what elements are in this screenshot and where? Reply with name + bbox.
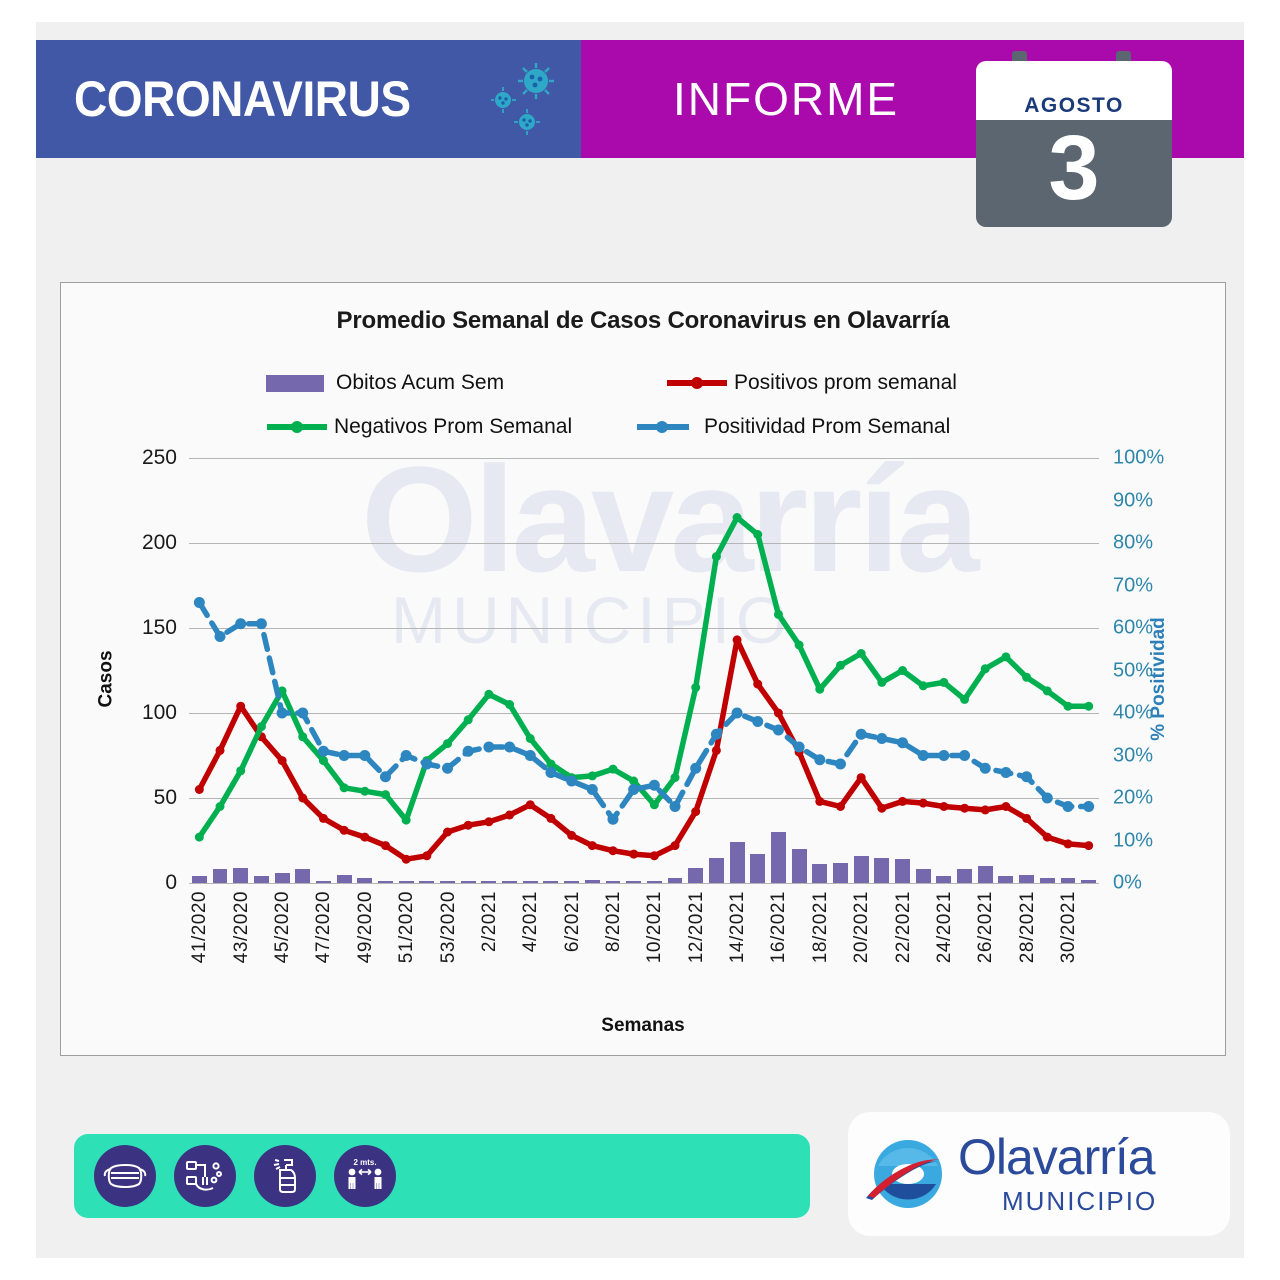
data-point bbox=[443, 739, 452, 748]
x-axis-tick: 45/2020 bbox=[272, 891, 294, 963]
data-point bbox=[897, 737, 908, 748]
data-point bbox=[629, 850, 638, 859]
line-series-layer bbox=[189, 458, 1099, 883]
x-axis-tick: 8/2021 bbox=[603, 891, 625, 952]
data-point bbox=[711, 729, 722, 740]
data-point bbox=[815, 797, 824, 806]
calendar-day: 3 bbox=[1048, 129, 1099, 207]
data-point bbox=[526, 734, 535, 743]
x-axis-tick: 2/2021 bbox=[479, 891, 501, 952]
x-axis-tick: 22/2021 bbox=[893, 891, 915, 963]
x-axis-tick: 14/2021 bbox=[727, 891, 749, 963]
data-point bbox=[919, 681, 928, 690]
legend-swatch-line-green-icon bbox=[266, 417, 328, 437]
data-point bbox=[691, 807, 700, 816]
calendar-date-widget: AGOSTO 3 bbox=[976, 55, 1172, 227]
data-point bbox=[278, 756, 287, 765]
plot-area: 0501001502002500%10%20%30%40%50%60%70%80… bbox=[189, 458, 1099, 883]
legend-item-positivos[interactable]: Positivos prom semanal bbox=[666, 371, 1046, 395]
data-point bbox=[1043, 686, 1052, 695]
y2-axis-tick: 80% bbox=[1113, 532, 1153, 555]
data-point bbox=[298, 794, 307, 803]
data-point bbox=[359, 750, 370, 761]
data-point bbox=[753, 680, 762, 689]
data-point bbox=[691, 683, 700, 692]
legend-label-negativos: Negativos Prom Semanal bbox=[334, 415, 572, 439]
data-point bbox=[1083, 801, 1094, 812]
y-axis-tick: 100 bbox=[142, 701, 177, 725]
data-point bbox=[443, 828, 452, 837]
data-point bbox=[216, 746, 225, 755]
data-point bbox=[712, 552, 721, 561]
data-point bbox=[380, 771, 391, 782]
data-point bbox=[836, 802, 845, 811]
data-point bbox=[402, 816, 411, 825]
data-point bbox=[960, 695, 969, 704]
data-point bbox=[981, 664, 990, 673]
data-point bbox=[795, 641, 804, 650]
data-point bbox=[959, 750, 970, 761]
data-point bbox=[981, 805, 990, 814]
data-point bbox=[753, 530, 762, 539]
data-point bbox=[939, 802, 948, 811]
data-point bbox=[588, 771, 597, 780]
data-point bbox=[195, 833, 204, 842]
data-point bbox=[236, 702, 245, 711]
data-point bbox=[919, 799, 928, 808]
data-point bbox=[980, 763, 991, 774]
data-point bbox=[442, 763, 453, 774]
data-point bbox=[464, 821, 473, 830]
data-point bbox=[733, 513, 742, 522]
legend-swatch-bar-icon bbox=[266, 375, 324, 392]
data-point bbox=[464, 715, 473, 724]
data-point bbox=[794, 742, 805, 753]
data-point bbox=[712, 746, 721, 755]
data-point bbox=[1063, 702, 1072, 711]
face-mask-icon bbox=[94, 1145, 156, 1207]
data-point bbox=[815, 685, 824, 694]
x-axis-tick: 18/2021 bbox=[810, 891, 832, 963]
data-point bbox=[339, 750, 350, 761]
data-point bbox=[483, 742, 494, 753]
data-point bbox=[566, 776, 577, 787]
y-axis-tick: 200 bbox=[142, 531, 177, 555]
data-point bbox=[607, 814, 618, 825]
data-point bbox=[567, 831, 576, 840]
data-point bbox=[1000, 767, 1011, 778]
data-point bbox=[235, 618, 246, 629]
data-point bbox=[608, 846, 617, 855]
legend-row-2: Negativos Prom Semanal Positividad Prom … bbox=[266, 405, 1046, 449]
data-point bbox=[340, 783, 349, 792]
data-point bbox=[463, 746, 474, 757]
data-point bbox=[752, 716, 763, 727]
data-point bbox=[216, 802, 225, 811]
chart-legend: Obitos Acum Sem Positivos prom semanal N… bbox=[266, 361, 1046, 449]
data-point bbox=[628, 784, 639, 795]
data-point bbox=[401, 750, 412, 761]
data-point bbox=[318, 746, 329, 757]
calendar-month: AGOSTO bbox=[1024, 94, 1124, 118]
legend-row-1: Obitos Acum Sem Positivos prom semanal bbox=[266, 361, 1046, 405]
data-point bbox=[670, 801, 681, 812]
data-point bbox=[856, 729, 867, 740]
x-axis-tick: 20/2021 bbox=[851, 891, 873, 963]
data-point bbox=[256, 618, 267, 629]
page-title: CORONAVIRUS bbox=[74, 70, 411, 128]
x-axis-tick: 6/2021 bbox=[562, 891, 584, 952]
y-axis-label: Casos bbox=[96, 650, 118, 707]
data-point bbox=[877, 678, 886, 687]
y2-axis-tick: 0% bbox=[1113, 872, 1142, 895]
data-point bbox=[898, 797, 907, 806]
line-positivos bbox=[199, 640, 1088, 859]
hand-washing-icon bbox=[174, 1145, 236, 1207]
x-axis-tick: 51/2020 bbox=[396, 891, 418, 963]
data-point bbox=[588, 841, 597, 850]
data-point bbox=[1042, 793, 1053, 804]
data-point bbox=[277, 708, 288, 719]
y2-axis-tick: 50% bbox=[1113, 659, 1153, 682]
data-point bbox=[484, 817, 493, 826]
data-point bbox=[1084, 841, 1093, 850]
logo-text-block: Olavarría MUNICIPIO bbox=[958, 1132, 1157, 1217]
y2-axis-tick: 70% bbox=[1113, 574, 1153, 597]
data-point bbox=[649, 780, 660, 791]
y2-axis-tick: 100% bbox=[1113, 447, 1164, 470]
data-point bbox=[360, 787, 369, 796]
social-distance-icon: 2 mts. bbox=[334, 1145, 396, 1207]
data-point bbox=[1062, 801, 1073, 812]
y2-axis-tick: 60% bbox=[1113, 617, 1153, 640]
legend-label-positividad: Positividad Prom Semanal bbox=[704, 415, 950, 439]
data-point bbox=[1001, 652, 1010, 661]
data-point bbox=[1001, 802, 1010, 811]
municipality-logo: Olavarría MUNICIPIO bbox=[848, 1112, 1230, 1236]
data-point bbox=[960, 804, 969, 813]
legend-item-obitos[interactable]: Obitos Acum Sem bbox=[266, 371, 666, 395]
y2-axis-tick: 30% bbox=[1113, 744, 1153, 767]
chart-title: Promedio Semanal de Casos Coronavirus en… bbox=[61, 307, 1225, 335]
report-page: CORONAVIRUS bbox=[0, 0, 1280, 1280]
x-axis-tick: 4/2021 bbox=[520, 891, 542, 952]
data-point bbox=[774, 610, 783, 619]
x-axis-tick: 47/2020 bbox=[313, 891, 335, 963]
data-point bbox=[546, 814, 555, 823]
olavarria-swoosh-logo-icon bbox=[866, 1132, 950, 1216]
line-positividad bbox=[199, 603, 1088, 820]
legend-item-positividad[interactable]: Positividad Prom Semanal bbox=[636, 415, 1016, 439]
legend-item-negativos[interactable]: Negativos Prom Semanal bbox=[266, 415, 636, 439]
y-axis-tick: 0 bbox=[165, 871, 177, 895]
data-point bbox=[857, 649, 866, 658]
x-axis-tick: 43/2020 bbox=[231, 891, 253, 963]
data-point bbox=[773, 725, 784, 736]
data-point bbox=[484, 690, 493, 699]
data-point bbox=[421, 759, 432, 770]
data-point bbox=[1063, 839, 1072, 848]
data-point bbox=[195, 785, 204, 794]
data-point bbox=[422, 851, 431, 860]
x-axis-tick: 53/2020 bbox=[438, 891, 460, 963]
data-point bbox=[257, 722, 266, 731]
legend-swatch-line-red-icon bbox=[666, 373, 728, 393]
data-point bbox=[298, 732, 307, 741]
data-point bbox=[733, 635, 742, 644]
x-axis-tick: 28/2021 bbox=[1017, 891, 1039, 963]
data-point bbox=[732, 708, 743, 719]
prevention-measures-bar: 2 mts. bbox=[74, 1134, 810, 1218]
legend-label-obitos: Obitos Acum Sem bbox=[336, 371, 504, 395]
data-point bbox=[898, 666, 907, 675]
data-point bbox=[402, 855, 411, 864]
logo-subtitle: MUNICIPIO bbox=[1002, 1186, 1157, 1217]
data-point bbox=[671, 773, 680, 782]
data-point bbox=[587, 784, 598, 795]
data-point bbox=[1022, 814, 1031, 823]
data-point bbox=[857, 773, 866, 782]
data-point bbox=[671, 841, 680, 850]
data-point bbox=[194, 597, 205, 608]
y-axis-tick: 50 bbox=[154, 786, 177, 810]
data-point bbox=[340, 826, 349, 835]
data-point bbox=[505, 700, 514, 709]
y2-axis-tick: 20% bbox=[1113, 787, 1153, 810]
data-point bbox=[504, 742, 515, 753]
logo-name: Olavarría bbox=[958, 1132, 1157, 1182]
data-point bbox=[938, 750, 949, 761]
data-point bbox=[814, 754, 825, 765]
y2-axis-tick: 90% bbox=[1113, 489, 1153, 512]
y2-axis-tick: 40% bbox=[1113, 702, 1153, 725]
data-point bbox=[525, 750, 536, 761]
data-point bbox=[319, 814, 328, 823]
data-point bbox=[236, 766, 245, 775]
x-axis-tick: 30/2021 bbox=[1058, 891, 1080, 963]
data-point bbox=[939, 678, 948, 687]
data-point bbox=[1021, 771, 1032, 782]
data-point bbox=[835, 759, 846, 770]
data-point bbox=[876, 733, 887, 744]
x-axis-tick: 16/2021 bbox=[768, 891, 790, 963]
y-axis-tick: 250 bbox=[142, 446, 177, 470]
data-point bbox=[650, 800, 659, 809]
calendar-header: AGOSTO bbox=[976, 61, 1172, 120]
x-axis-tick: 26/2021 bbox=[975, 891, 997, 963]
data-point bbox=[545, 767, 556, 778]
data-point bbox=[690, 763, 701, 774]
x-axis-tick: 10/2021 bbox=[644, 891, 666, 963]
data-point bbox=[1043, 833, 1052, 842]
data-point bbox=[608, 765, 617, 774]
gridline bbox=[189, 883, 1099, 884]
data-point bbox=[381, 790, 390, 799]
virus-cluster-icon bbox=[491, 62, 571, 140]
y-axis-tick: 150 bbox=[142, 616, 177, 640]
data-point bbox=[360, 833, 369, 842]
data-point bbox=[505, 811, 514, 820]
legend-swatch-line-blue-dashed-icon bbox=[636, 417, 698, 437]
header-left-panel: CORONAVIRUS bbox=[36, 40, 581, 158]
data-point bbox=[381, 841, 390, 850]
data-point bbox=[297, 708, 308, 719]
data-point bbox=[215, 631, 226, 642]
chart-panel: Olavarría MUNICIPIO Promedio Semanal de … bbox=[60, 282, 1226, 1056]
svg-text:2 mts.: 2 mts. bbox=[353, 1158, 376, 1167]
data-point bbox=[319, 756, 328, 765]
x-axis-tick: 12/2021 bbox=[686, 891, 708, 963]
calendar-body: 3 bbox=[976, 120, 1172, 227]
data-point bbox=[774, 709, 783, 718]
x-axis-label: Semanas bbox=[61, 1015, 1225, 1037]
x-axis-tick: 41/2020 bbox=[189, 891, 211, 963]
data-point bbox=[1084, 702, 1093, 711]
x-axis-tick: 49/2020 bbox=[355, 891, 377, 963]
sanitizer-spray-icon bbox=[254, 1145, 316, 1207]
data-point bbox=[836, 661, 845, 670]
data-point bbox=[877, 804, 886, 813]
report-label: INFORME bbox=[673, 72, 899, 126]
data-point bbox=[526, 800, 535, 809]
y2-axis-tick: 10% bbox=[1113, 829, 1153, 852]
data-point bbox=[1022, 673, 1031, 682]
x-axis-tick: 24/2021 bbox=[934, 891, 956, 963]
data-point bbox=[918, 750, 929, 761]
data-point bbox=[650, 851, 659, 860]
legend-label-positivos: Positivos prom semanal bbox=[734, 371, 957, 395]
